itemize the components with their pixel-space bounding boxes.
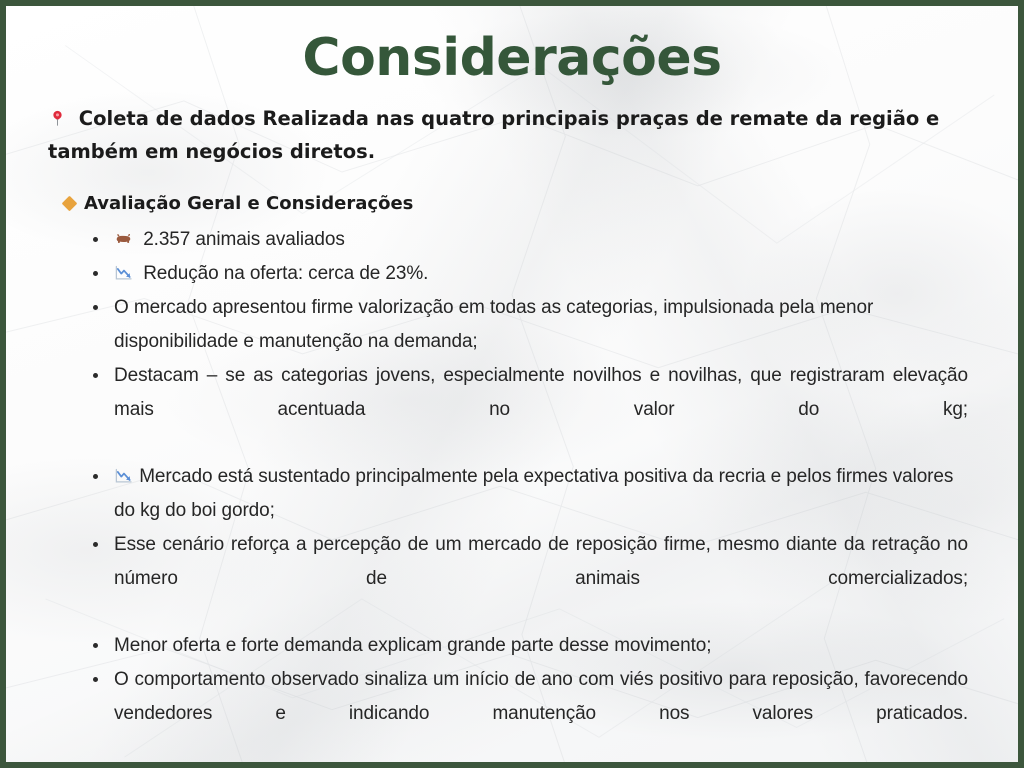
list-item-text: O comportamento observado sinaliza um in…	[114, 669, 968, 724]
list-item-text: Esse cenário reforça a percepção de um m…	[114, 534, 968, 589]
list-item: 2.357 animais avaliados	[92, 223, 968, 257]
section-heading-label: Avaliação Geral e Considerações	[84, 190, 413, 217]
list-item-text: Redução na oferta: cerca de 23%.	[143, 263, 428, 284]
lead-paragraph: Coleta de dados Realizada nas quatro pri…	[48, 102, 976, 168]
chart-decreasing-icon	[114, 263, 133, 282]
list-item: Redução na oferta: cerca de 23%.	[92, 257, 968, 291]
list-item: Esse cenário reforça a percepção de um m…	[92, 528, 968, 629]
list-item: O comportamento observado sinaliza um in…	[92, 663, 968, 764]
list-item: Menor oferta e forte demanda explicam gr…	[92, 629, 968, 663]
list-item-text: 2.357 animais avaliados	[143, 229, 345, 250]
round-pushpin-icon	[48, 109, 67, 128]
list-item-text: Destacam – se as categorias jovens, espe…	[114, 365, 968, 420]
list-item-text: O mercado apresentou firme valorização e…	[114, 297, 873, 352]
slide: Considerações Coleta de dados Realizada …	[0, 0, 1024, 768]
list-item-text: Menor oferta e forte demanda explicam gr…	[114, 635, 711, 656]
list-item: Mercado está sustentado principalmente p…	[92, 460, 968, 528]
page-title: Considerações	[34, 6, 990, 86]
chart-decreasing-icon	[114, 466, 133, 485]
list-item-text: Mercado está sustentado principalmente p…	[114, 466, 953, 521]
considerations-list: 2.357 animais avaliados Redução na ofert…	[34, 223, 990, 764]
lead-text: Coleta de dados Realizada nas quatro pri…	[48, 107, 939, 163]
list-item: Destacam – se as categorias jovens, espe…	[92, 359, 968, 460]
slide-content: Considerações Coleta de dados Realizada …	[6, 6, 1018, 764]
section-heading: Avaliação Geral e Considerações	[64, 190, 990, 217]
orange-diamond-icon	[62, 196, 78, 212]
ox-icon	[114, 229, 133, 248]
list-item: O mercado apresentou firme valorização e…	[92, 291, 968, 359]
